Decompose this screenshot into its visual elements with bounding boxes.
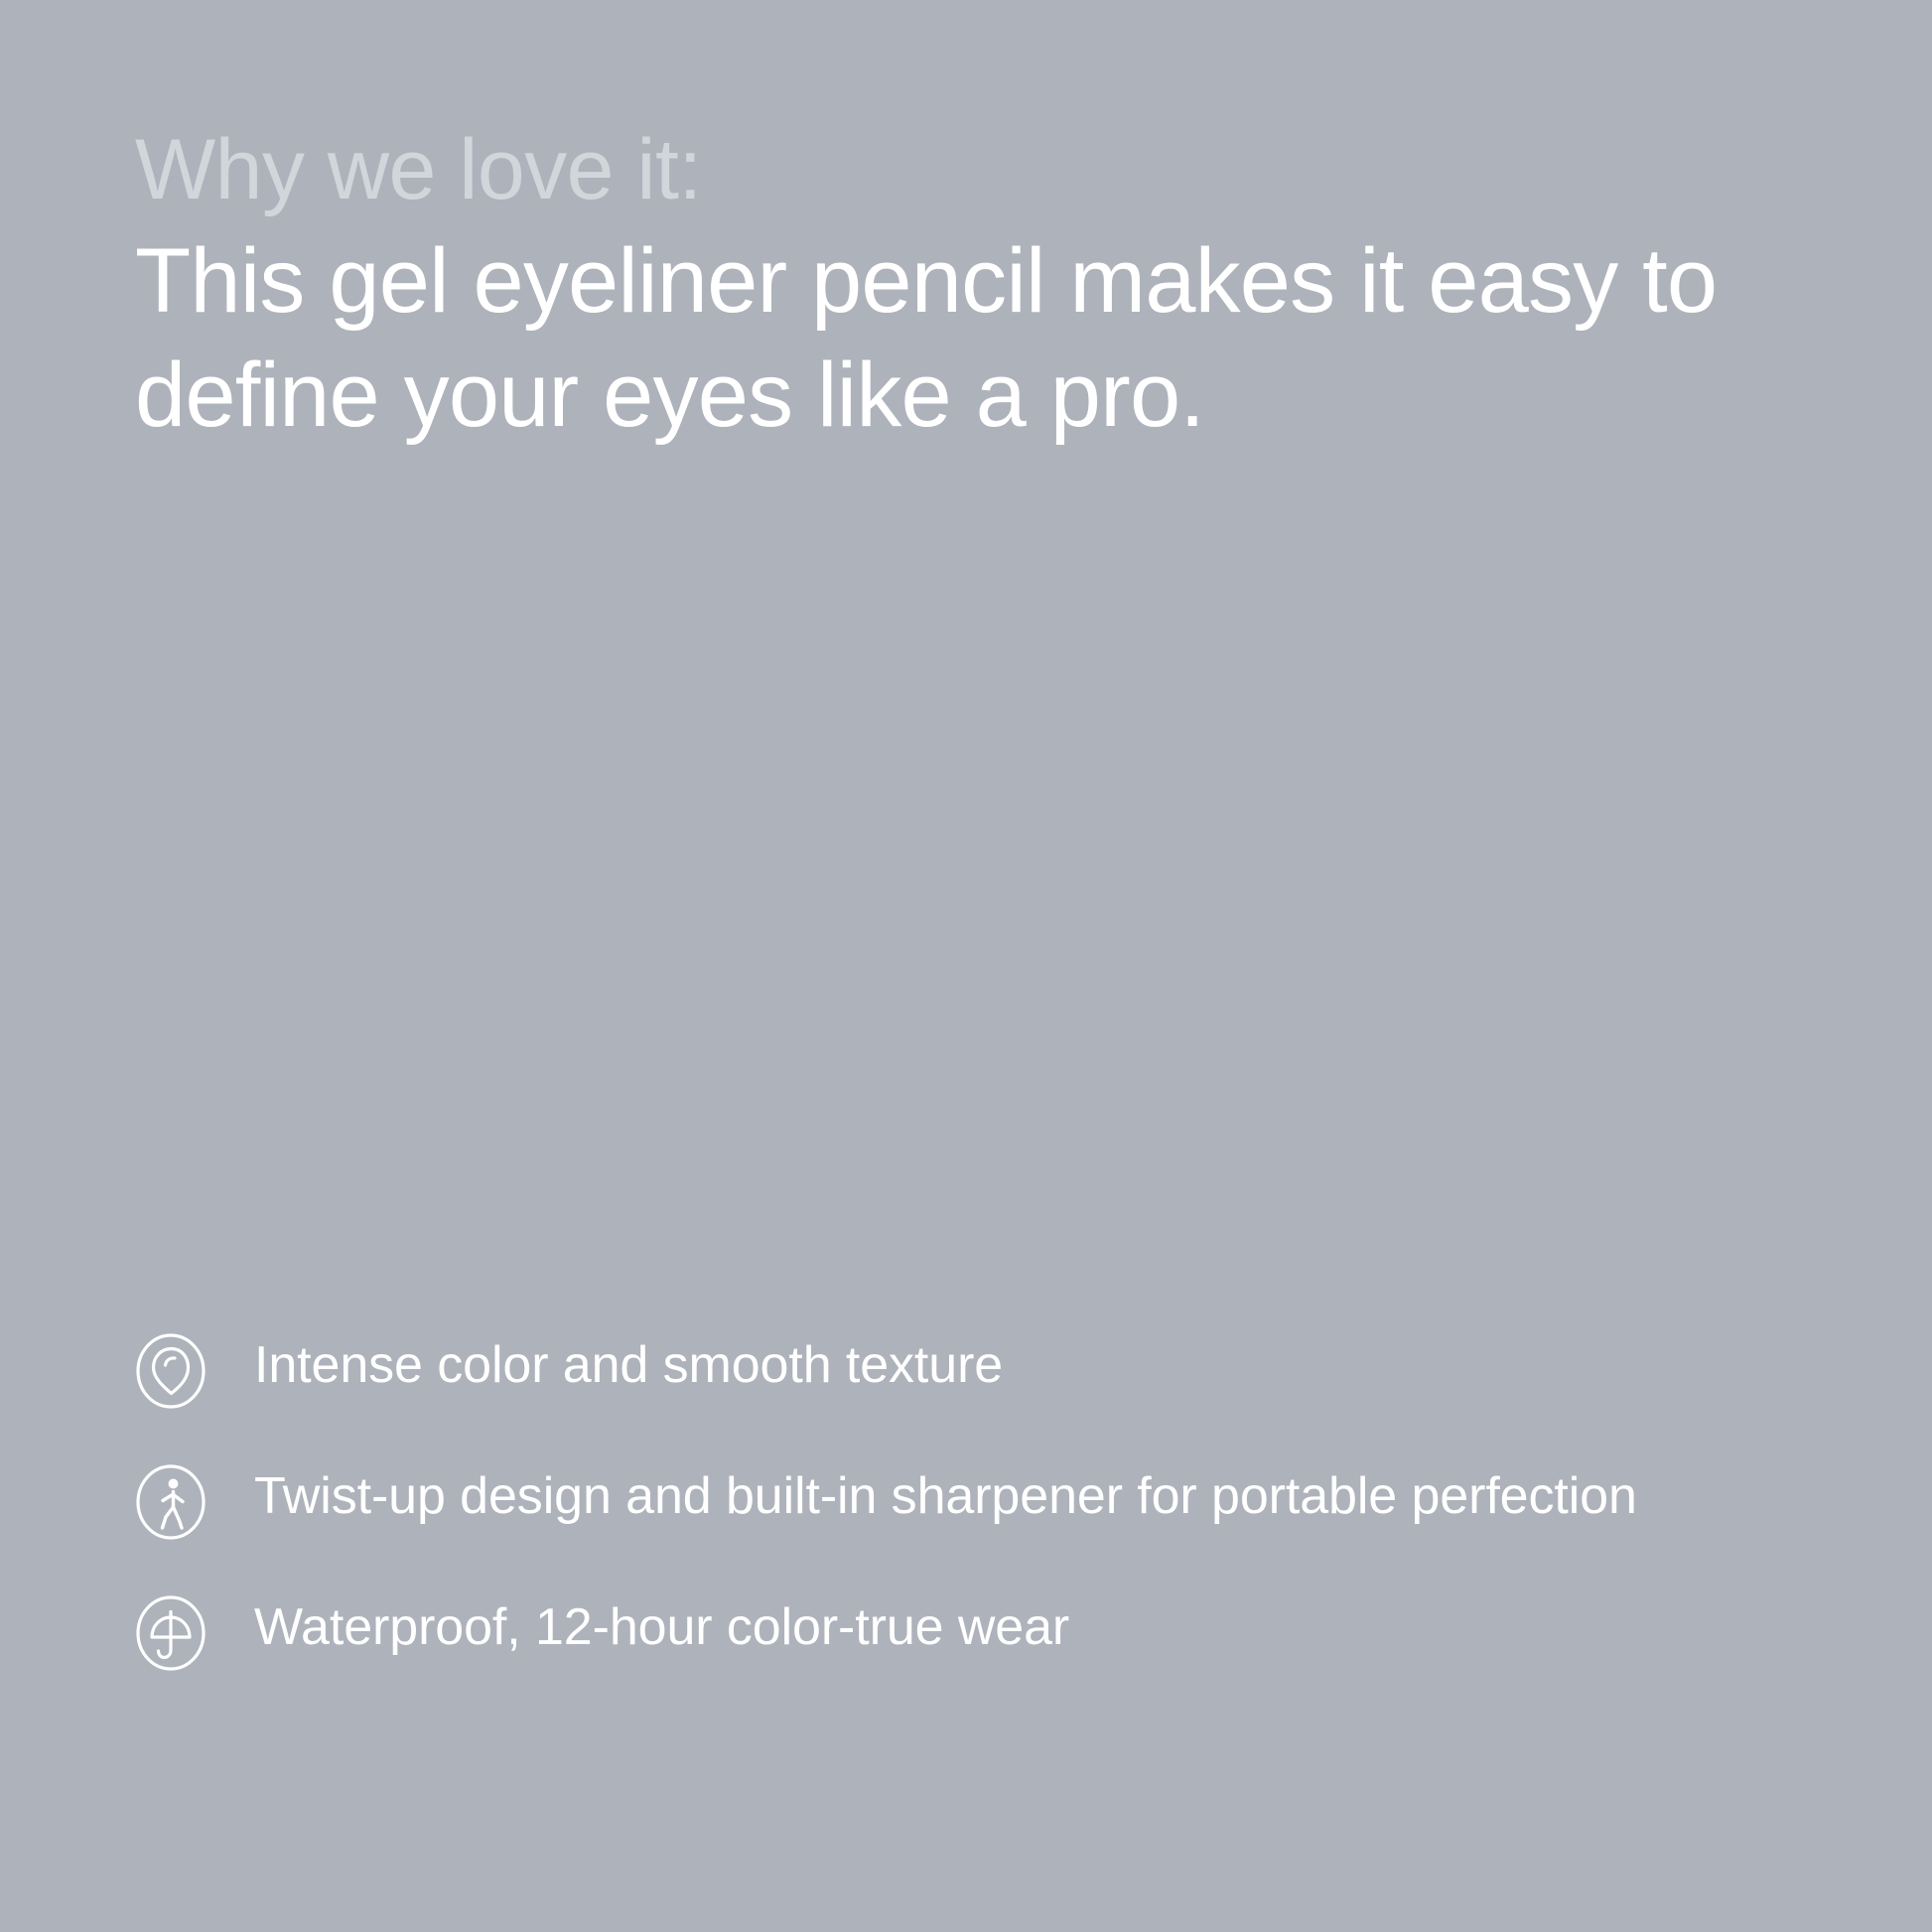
list-item: Waterproof, 12-hour color-true wear: [135, 1588, 1843, 1672]
walking-person-icon: [135, 1463, 207, 1541]
product-benefits-card: Why we love it: This gel eyeliner pencil…: [0, 0, 1932, 1932]
gel-drop-icon: [135, 1332, 207, 1410]
benefit-text: Twist-up design and built-in sharpener f…: [254, 1457, 1637, 1531]
benefits-list: Intense color and smooth texture Twist-u…: [135, 1326, 1843, 1672]
headline-block: Why we love it: This gel eyeliner pencil…: [135, 117, 1823, 454]
page-title: This gel eyeliner pencil makes it easy t…: [135, 224, 1783, 455]
benefit-text: Intense color and smooth texture: [254, 1326, 1003, 1400]
list-item: Intense color and smooth texture: [135, 1326, 1843, 1410]
benefit-text: Waterproof, 12-hour color-true wear: [254, 1588, 1069, 1662]
umbrella-icon: [135, 1594, 207, 1672]
list-item: Twist-up design and built-in sharpener f…: [135, 1457, 1843, 1541]
eyebrow-label: Why we love it:: [135, 117, 1823, 224]
